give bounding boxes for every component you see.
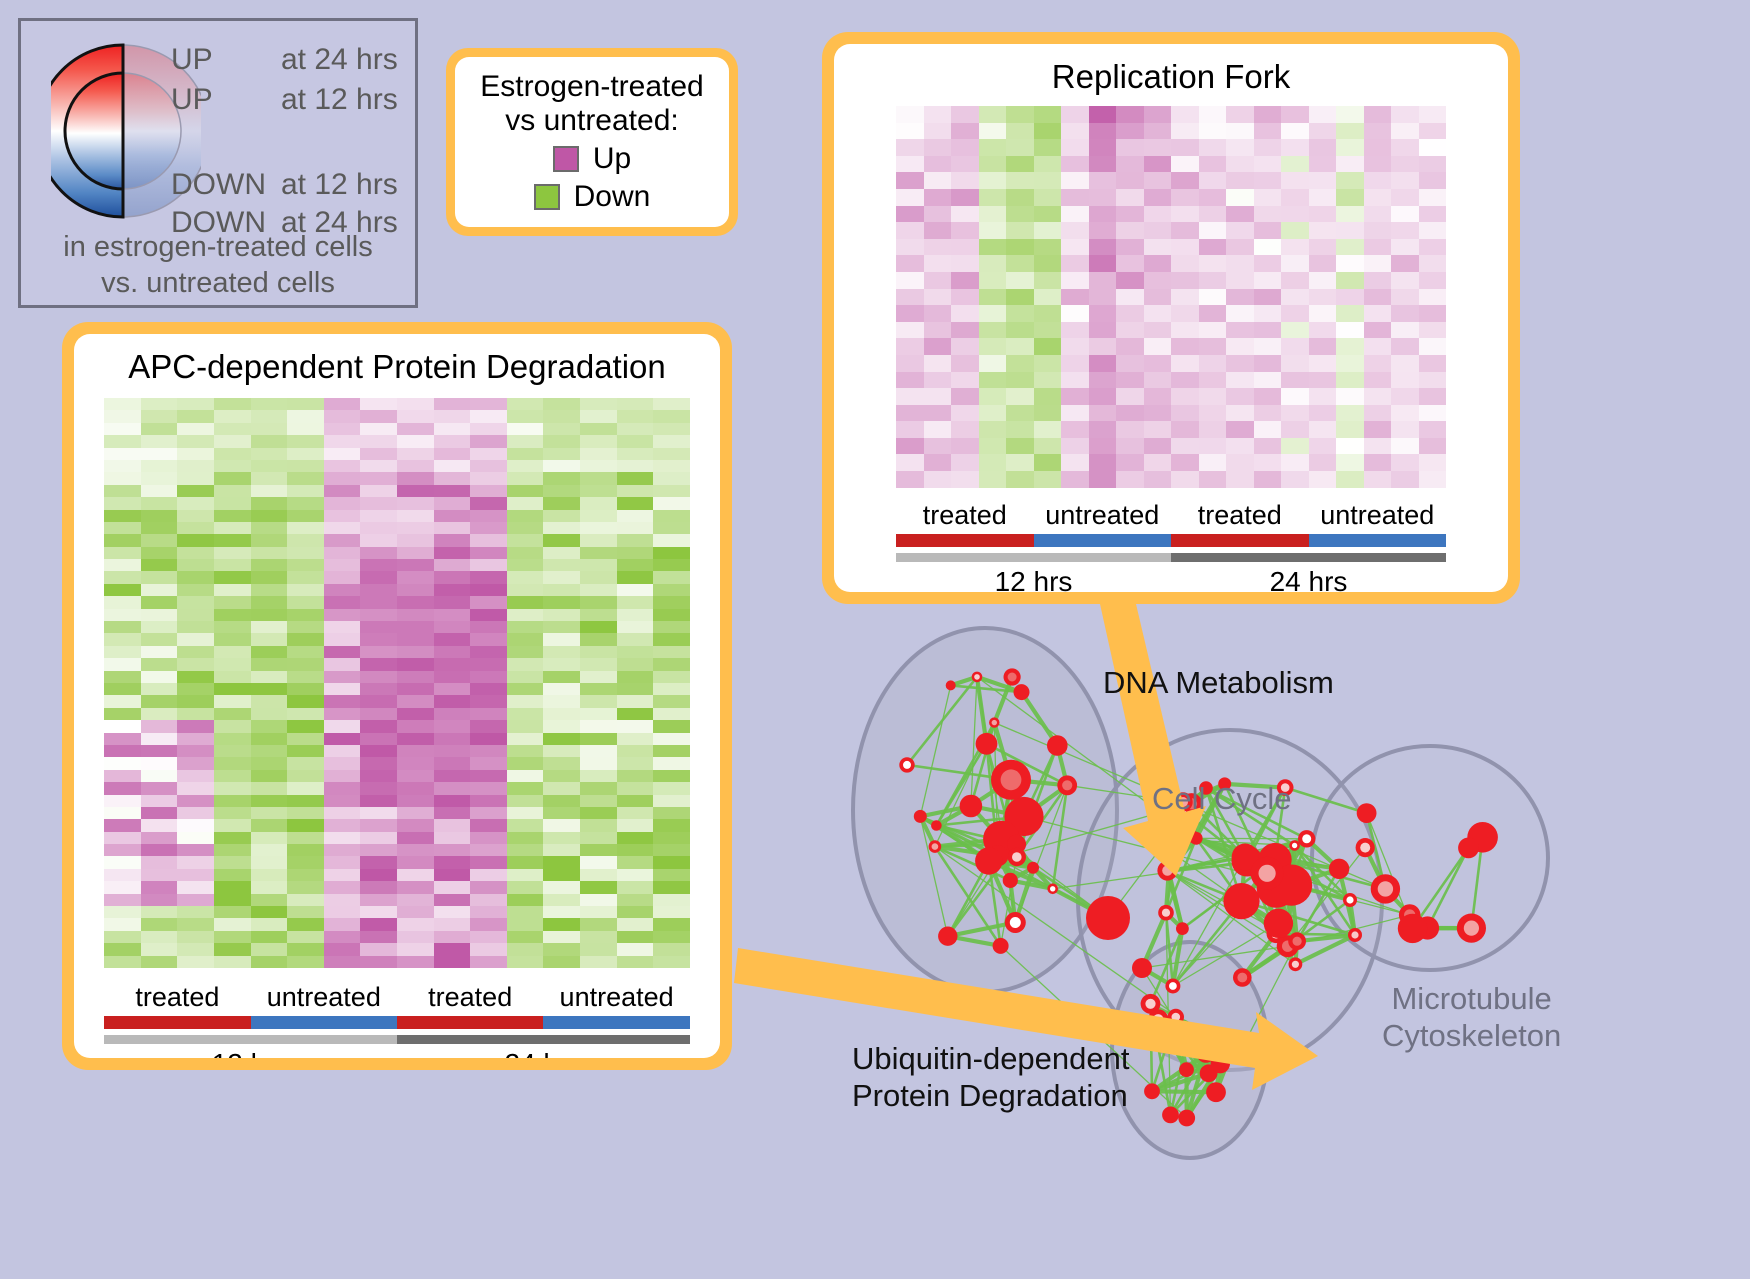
- ubiquitin-line1: Ubiquitin-dependent: [852, 1040, 1130, 1077]
- heatmap-cell: [979, 206, 1007, 223]
- heatmap-cell: [1199, 206, 1227, 223]
- heatmap-cell: [979, 322, 1007, 339]
- heatmap-cell: [360, 807, 397, 819]
- heatmap-cell: [360, 435, 397, 447]
- heatmap-cell: [470, 584, 507, 596]
- heatmap-cell: [470, 460, 507, 472]
- heatmap-cell: [543, 695, 580, 707]
- heatmap-cell: [251, 522, 288, 534]
- heatmap-cell: [1336, 206, 1364, 223]
- heatmap-cell: [251, 398, 288, 410]
- heatmap-cell: [141, 708, 178, 720]
- heatmap-cell: [434, 485, 471, 497]
- heatmap-cell: [214, 671, 251, 683]
- heatmap-cell: [951, 454, 979, 471]
- heatmap-cell: [543, 559, 580, 571]
- heatmap-cell: [617, 807, 654, 819]
- heatmap-cell: [434, 609, 471, 621]
- heatmap-cell: [397, 559, 434, 571]
- heatmap-cell: [1364, 206, 1392, 223]
- heatmap-cell: [951, 421, 979, 438]
- col-label-treated-12: treated: [896, 500, 1034, 531]
- heatmap-cell: [1171, 471, 1199, 488]
- heatmap-cell: [434, 621, 471, 633]
- heatmap-cell: [360, 782, 397, 794]
- heatmap-cell: [324, 472, 361, 484]
- heatmap-cell: [543, 832, 580, 844]
- heatmap-cell: [507, 918, 544, 930]
- heatmap-cell: [251, 609, 288, 621]
- heatmap-cell: [104, 782, 141, 794]
- heatmap-cell: [470, 819, 507, 831]
- heatmap-cell: [1226, 255, 1254, 272]
- heatmap-cell: [543, 720, 580, 732]
- heatmap-cell: [1309, 106, 1337, 123]
- heatmap-cell: [360, 745, 397, 757]
- heatmap-cell: [653, 795, 690, 807]
- heatmap-cell: [653, 757, 690, 769]
- heatmap-cell: [141, 869, 178, 881]
- heatmap-cell: [507, 472, 544, 484]
- heatmap-cell: [287, 609, 324, 621]
- heatmap-cell: [1419, 206, 1447, 223]
- heatmap-cell: [470, 559, 507, 571]
- heatmap-cell: [360, 596, 397, 608]
- heatmap-cell: [324, 695, 361, 707]
- heatmap-cell: [1034, 239, 1062, 256]
- heatmap-cell: [1006, 322, 1034, 339]
- heatmap-cell: [1364, 272, 1392, 289]
- heatmap-cell: [1061, 206, 1089, 223]
- heatmap-cell: [470, 832, 507, 844]
- heatmap-cell: [287, 448, 324, 460]
- heatmap-cell: [287, 497, 324, 509]
- heatmap-cell: [543, 881, 580, 893]
- heatmap-cell: [617, 609, 654, 621]
- heatmap-cell: [177, 485, 214, 497]
- heatmap-cell: [1171, 454, 1199, 471]
- heatmap-cell: [214, 423, 251, 435]
- panel-title-apc: APC-dependent Protein Degradation: [74, 334, 720, 386]
- heatmap-cell: [580, 844, 617, 856]
- heatmap-cell: [397, 881, 434, 893]
- heatmap-cell: [214, 782, 251, 794]
- heatmap-cell: [434, 856, 471, 868]
- heatmap-cell: [214, 745, 251, 757]
- heatmap-cell: [104, 559, 141, 571]
- heatmap-cell: [580, 733, 617, 745]
- heatmap-cell: [287, 646, 324, 658]
- heatmap-cell: [177, 633, 214, 645]
- heatmap-cell: [1171, 438, 1199, 455]
- heatmap-cell: [287, 460, 324, 472]
- heatmap-cell: [434, 683, 471, 695]
- heatmap-cell: [251, 745, 288, 757]
- heatmap-cell: [543, 460, 580, 472]
- heatmap-cell: [1034, 139, 1062, 156]
- heatmap-cell: [1391, 189, 1419, 206]
- heatmap-cell: [1226, 106, 1254, 123]
- heatmap-cell: [580, 708, 617, 720]
- heatmap-cell: [1034, 106, 1062, 123]
- heatmap-cell: [507, 894, 544, 906]
- key-time: at 24 hrs: [281, 45, 398, 75]
- heatmap-cell: [580, 918, 617, 930]
- heatmap-cell: [470, 782, 507, 794]
- heatmap-cell: [1364, 123, 1392, 140]
- heatmap-cell: [104, 695, 141, 707]
- heatmap-cell: [1006, 372, 1034, 389]
- key-time: at 12 hrs: [281, 170, 398, 200]
- heatmap-cell: [470, 609, 507, 621]
- heatmap-cell: [104, 807, 141, 819]
- heatmap-cell: [177, 931, 214, 943]
- heatmap-cell: [543, 906, 580, 918]
- heatmap-cell: [653, 906, 690, 918]
- heatmap-cell: [1419, 405, 1447, 422]
- heatmap-cell: [324, 621, 361, 633]
- heatmap-cell: [287, 844, 324, 856]
- heatmap-cell: [214, 460, 251, 472]
- heatmap-cell: [580, 435, 617, 447]
- heatmap-cell: [1309, 139, 1337, 156]
- heatmap-cell: [434, 844, 471, 856]
- heatmap-cell: [1364, 372, 1392, 389]
- heatmap-cell: [1309, 454, 1337, 471]
- heatmap-cell: [543, 943, 580, 955]
- heatmap-cell: [470, 534, 507, 546]
- heatmap-cell: [1281, 305, 1309, 322]
- heatmap-cell: [434, 410, 471, 422]
- heatmap-cell: [507, 398, 544, 410]
- heatmap-cell: [470, 807, 507, 819]
- heatmap-cell: [251, 683, 288, 695]
- heatmap-cell: [214, 472, 251, 484]
- heatmap-cell: [1391, 372, 1419, 389]
- heatmap-cell: [1144, 372, 1172, 389]
- heatmap-cell: [896, 388, 924, 405]
- heatmap-cell: [434, 745, 471, 757]
- legend-item-down: Down: [534, 180, 651, 214]
- heatmap-cell: [1061, 289, 1089, 306]
- heatmap-cell: [397, 609, 434, 621]
- heatmap-cell: [324, 832, 361, 844]
- heatmap-cell: [287, 671, 324, 683]
- legend-title-line2: vs untreated:: [505, 104, 678, 138]
- heatmap-cell: [1391, 106, 1419, 123]
- heatmap-cell: [617, 485, 654, 497]
- heatmap-cell: [1034, 372, 1062, 389]
- heatmap-cell: [324, 795, 361, 807]
- heatmap-cell: [141, 671, 178, 683]
- heatmap-cell: [1116, 206, 1144, 223]
- heatmap-cell: [214, 683, 251, 695]
- heatmap-cell: [141, 398, 178, 410]
- heatmap-cell: [543, 745, 580, 757]
- heatmap-cell: [653, 819, 690, 831]
- legend-title-line1: Estrogen-treated: [480, 70, 703, 104]
- heatmap-cell: [1364, 454, 1392, 471]
- heatmap-cell: [434, 782, 471, 794]
- heatmap-cell: [1391, 222, 1419, 239]
- heatmap-cell: [251, 881, 288, 893]
- heatmap-cell: [979, 372, 1007, 389]
- heatmap-cell: [543, 547, 580, 559]
- heatmap-cell: [1336, 139, 1364, 156]
- heatmap-cell: [617, 695, 654, 707]
- heatmap-cell: [177, 894, 214, 906]
- heatmap-cell: [1281, 471, 1309, 488]
- heatmap-cell: [251, 485, 288, 497]
- heatmap-cell: [397, 658, 434, 670]
- heatmap-cell: [214, 795, 251, 807]
- heatmap-cell: [434, 658, 471, 670]
- heatmap-cell: [141, 547, 178, 559]
- heatmap-cell: [324, 435, 361, 447]
- heatmap-cell: [1116, 172, 1144, 189]
- heatmap-cell: [104, 881, 141, 893]
- heatmap-cell: [1226, 222, 1254, 239]
- heatmap-cell: [1364, 255, 1392, 272]
- heatmap-cell: [1419, 421, 1447, 438]
- col-label-untreated-12: untreated: [251, 982, 397, 1013]
- heatmap-cell: [1391, 405, 1419, 422]
- heatmap-cell: [1034, 471, 1062, 488]
- heatmap-cell: [1061, 272, 1089, 289]
- heatmap-cell: [251, 708, 288, 720]
- heatmap-cell: [1309, 372, 1337, 389]
- heatmap-cell: [141, 584, 178, 596]
- heatmap-cell: [617, 795, 654, 807]
- heatmap-cell: [397, 485, 434, 497]
- heatmap-cell: [1226, 471, 1254, 488]
- heatmap-cell: [617, 448, 654, 460]
- heatmap-cell: [104, 398, 141, 410]
- heatmap-cell: [104, 844, 141, 856]
- heatmap-cell: [141, 633, 178, 645]
- heatmap-cell: [287, 807, 324, 819]
- heatmap-cell: [360, 881, 397, 893]
- heatmap-cell: [287, 596, 324, 608]
- timepoint-color-bar: [896, 553, 1446, 562]
- heatmap-cell: [251, 646, 288, 658]
- heatmap-cell: [470, 795, 507, 807]
- heatmap-cell: [214, 398, 251, 410]
- heatmap-cell: [1419, 239, 1447, 256]
- heatmap-cell: [104, 720, 141, 732]
- heatmap-cell: [1419, 305, 1447, 322]
- heatmap-cell: [251, 856, 288, 868]
- heatmap-cell: [1281, 405, 1309, 422]
- heatmap-cell: [543, 472, 580, 484]
- heatmap-cell: [653, 931, 690, 943]
- heatmap-cell: [360, 956, 397, 968]
- heatmap-cell: [507, 571, 544, 583]
- heatmap-cell: [104, 497, 141, 509]
- heatmap-cell: [580, 584, 617, 596]
- heatmap-cell: [1336, 372, 1364, 389]
- updown-legend-card: Estrogen-treated vs untreated: Up Down: [446, 48, 738, 236]
- heatmap-cell: [580, 807, 617, 819]
- heatmap-cell: [434, 770, 471, 782]
- col-label-treated-24: treated: [397, 982, 543, 1013]
- heatmap-cell: [1089, 454, 1117, 471]
- heatmap-cell: [470, 869, 507, 881]
- heatmap-cell: [434, 497, 471, 509]
- key-row: UP at 24 hrs: [171, 45, 421, 75]
- heatmap-cell: [177, 745, 214, 757]
- heatmap-cell: [397, 571, 434, 583]
- timepoint-12: 12 hrs: [896, 566, 1171, 592]
- heatmap-cell: [653, 745, 690, 757]
- heatmap-cell: [653, 658, 690, 670]
- heatmap-cell: [1089, 206, 1117, 223]
- heatmap-cell: [1061, 438, 1089, 455]
- heatmap-cell: [287, 745, 324, 757]
- heatmap-cell: [104, 584, 141, 596]
- heatmap-cell: [214, 547, 251, 559]
- heatmap-cell: [1364, 471, 1392, 488]
- heatmap-cell: [434, 881, 471, 893]
- heatmap-cell: [1199, 156, 1227, 173]
- heatmap-cell: [543, 708, 580, 720]
- heatmap-cell: [360, 448, 397, 460]
- heatmap-cell: [1061, 338, 1089, 355]
- heatmap-cell: [214, 832, 251, 844]
- timepoint-24: 24 hrs: [1171, 566, 1446, 592]
- heatmap-cell: [360, 819, 397, 831]
- heatmap-cell: [1391, 454, 1419, 471]
- heatmap-cell: [1254, 239, 1282, 256]
- heatmap-cell: [1116, 338, 1144, 355]
- heatmap-cell: [543, 584, 580, 596]
- heatmap-cell: [251, 943, 288, 955]
- heatmap-cell: [1419, 372, 1447, 389]
- heatmap-cell: [653, 869, 690, 881]
- heatmap-cell: [287, 733, 324, 745]
- heatmap-cell: [360, 423, 397, 435]
- heatmap-cell: [1116, 305, 1144, 322]
- heatmap-cell: [397, 844, 434, 856]
- heatmap-cell: [1281, 139, 1309, 156]
- heatmap-cell: [1364, 106, 1392, 123]
- heatmap-cell: [470, 410, 507, 422]
- heatmap-cell: [1336, 106, 1364, 123]
- heatmap-cell: [1089, 123, 1117, 140]
- heatmap-cell: [1419, 355, 1447, 372]
- heatmap-cell: [397, 819, 434, 831]
- heatmap-cell: [924, 322, 952, 339]
- timepoint-24: 24 hrs: [397, 1048, 690, 1058]
- heatmap-cell: [979, 438, 1007, 455]
- heatmap-cell: [1089, 305, 1117, 322]
- heatmap-cell: [979, 189, 1007, 206]
- heatmap-cell: [1199, 172, 1227, 189]
- heatmap-cell: [141, 646, 178, 658]
- heatmap-cell: [1364, 438, 1392, 455]
- heatmap-cell: [141, 956, 178, 968]
- heatmap-cell: [1144, 454, 1172, 471]
- heatmap-cell: [470, 720, 507, 732]
- heatmap-cell: [580, 906, 617, 918]
- heatmap-cell: [580, 448, 617, 460]
- heatmap-cell: [214, 522, 251, 534]
- heatmap-cell: [1391, 289, 1419, 306]
- heatmap-cell: [580, 423, 617, 435]
- heatmap-cell: [141, 448, 178, 460]
- heatmap-cell: [1034, 305, 1062, 322]
- heatmap-cell: [507, 708, 544, 720]
- heatmap-cell: [287, 534, 324, 546]
- heatmap-cell: [177, 448, 214, 460]
- heatmap-cell: [251, 534, 288, 546]
- heatmap-cell: [1034, 156, 1062, 173]
- heatmap-cell: [1336, 156, 1364, 173]
- heatmap-cell: [434, 894, 471, 906]
- heatmap-cell: [1309, 338, 1337, 355]
- column-annotation-apc: treated untreated treated untreated 12 h…: [104, 982, 690, 1058]
- heatmap-cell: [287, 658, 324, 670]
- heatmap-cell: [1144, 388, 1172, 405]
- heatmap-cell: [1364, 322, 1392, 339]
- heatmap-cell: [1061, 106, 1089, 123]
- heatmap-cell: [507, 671, 544, 683]
- heatmap-cell: [324, 559, 361, 571]
- heatmap-cell: [104, 918, 141, 930]
- microtubule-line1: Microtubule: [1382, 980, 1561, 1017]
- heatmap-cell: [653, 894, 690, 906]
- heatmap-cell: [617, 658, 654, 670]
- heatmap-cell: [360, 410, 397, 422]
- heatmap-cell: [653, 547, 690, 559]
- heatmap-cell: [580, 522, 617, 534]
- heatmap-cell: [1116, 388, 1144, 405]
- heatmap-cell: [1171, 272, 1199, 289]
- heatmap-cell: [177, 609, 214, 621]
- heatmap-cell: [1171, 172, 1199, 189]
- heatmap-cell: [177, 497, 214, 509]
- heatmap-cell: [177, 423, 214, 435]
- key-row: UP at 12 hrs: [171, 85, 421, 115]
- heatmap-cell: [214, 497, 251, 509]
- heatmap-cell: [653, 534, 690, 546]
- heatmap-cell: [1144, 172, 1172, 189]
- heatmap-cell: [507, 584, 544, 596]
- heatmap-cell: [1226, 338, 1254, 355]
- heatmap-cell: [1281, 206, 1309, 223]
- heatmap-cell: [360, 832, 397, 844]
- cluster-label-microtubule: Microtubule Cytoskeleton: [1382, 980, 1561, 1054]
- heatmap-cell: [434, 819, 471, 831]
- heatmap-cell: [141, 683, 178, 695]
- heatmap-cell: [1199, 454, 1227, 471]
- heatmap-cell: [653, 609, 690, 621]
- heatmap-cell: [397, 795, 434, 807]
- heatmap-cell: [177, 534, 214, 546]
- heatmap-cell: [397, 596, 434, 608]
- heatmap-cell: [434, 534, 471, 546]
- heatmap-cell: [1391, 305, 1419, 322]
- heatmap-cell: [214, 856, 251, 868]
- heatmap-cell: [653, 633, 690, 645]
- heatmap-cell: [580, 683, 617, 695]
- heatmap-cell: [141, 832, 178, 844]
- heatmap-cell: [951, 272, 979, 289]
- heatmap-cell: [1061, 388, 1089, 405]
- color-key-labels: UP at 24 hrs UP at 12 hrs DOWN at 12 hrs…: [171, 43, 421, 238]
- heatmap-cell: [434, 918, 471, 930]
- heatmap-cell: [397, 782, 434, 794]
